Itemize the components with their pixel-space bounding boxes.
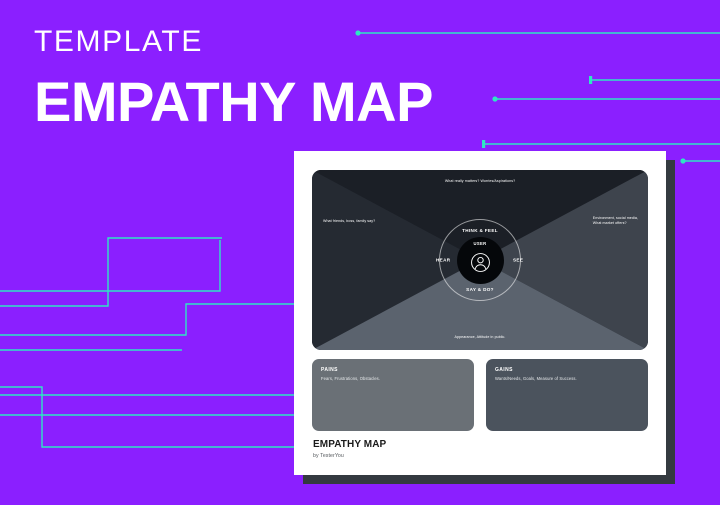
ring-label-see: SEE (513, 258, 523, 263)
line-endpoint-dot (492, 96, 497, 101)
eyebrow-text: TEMPLATE (34, 26, 433, 58)
headline-block: TEMPLATE EMPATHY MAP (34, 26, 433, 130)
empathy-map-quadrants: What really matters? Worries/Aspirations… (312, 170, 648, 350)
line-endpoint-dot (680, 158, 685, 163)
quadrant-label-say-do-hint: Appearance, Attitude in public. (312, 335, 648, 340)
card-footer-title: EMPATHY MAP (313, 439, 386, 450)
pains-subtitle: Fears, Frustrations, Obstacles. (321, 376, 465, 381)
card-footer: EMPATHY MAP by TesterYou (313, 439, 386, 459)
pains-panel: PAINS Fears, Frustrations, Obstacles. (312, 359, 474, 431)
slide-canvas: TEMPLATE EMPATHY MAP What really matters… (0, 0, 720, 505)
quadrant-label-hear-hint: What friends, boss, family say? (323, 219, 375, 224)
quadrant-label-think-feel-hint: What really matters? Worries/Aspirations… (312, 179, 648, 184)
empathy-map-card: What really matters? Worries/Aspirations… (294, 151, 666, 475)
ring-label-user: USER (473, 241, 486, 246)
user-person-icon (470, 252, 491, 273)
line-endpoint-cap (482, 140, 485, 148)
gains-subtitle: Wants/Needs, Goals, Measure of Success. (495, 376, 639, 381)
gains-title: GAINS (495, 367, 639, 373)
ring-label-say-do: SAY & DO? (466, 287, 494, 292)
line-endpoint-cap (589, 76, 592, 84)
page-title: EMPATHY MAP (34, 74, 433, 130)
card-footer-byline: by TesterYou (313, 453, 386, 459)
quadrant-label-see-hint: Environment, social media, What market o… (593, 216, 638, 226)
ring-label-think-feel: THINK & FEEL (462, 228, 498, 233)
pains-title: PAINS (321, 367, 465, 373)
ring-label-hear: HEAR (436, 258, 450, 263)
gains-panel: GAINS Wants/Needs, Goals, Measure of Suc… (486, 359, 648, 431)
